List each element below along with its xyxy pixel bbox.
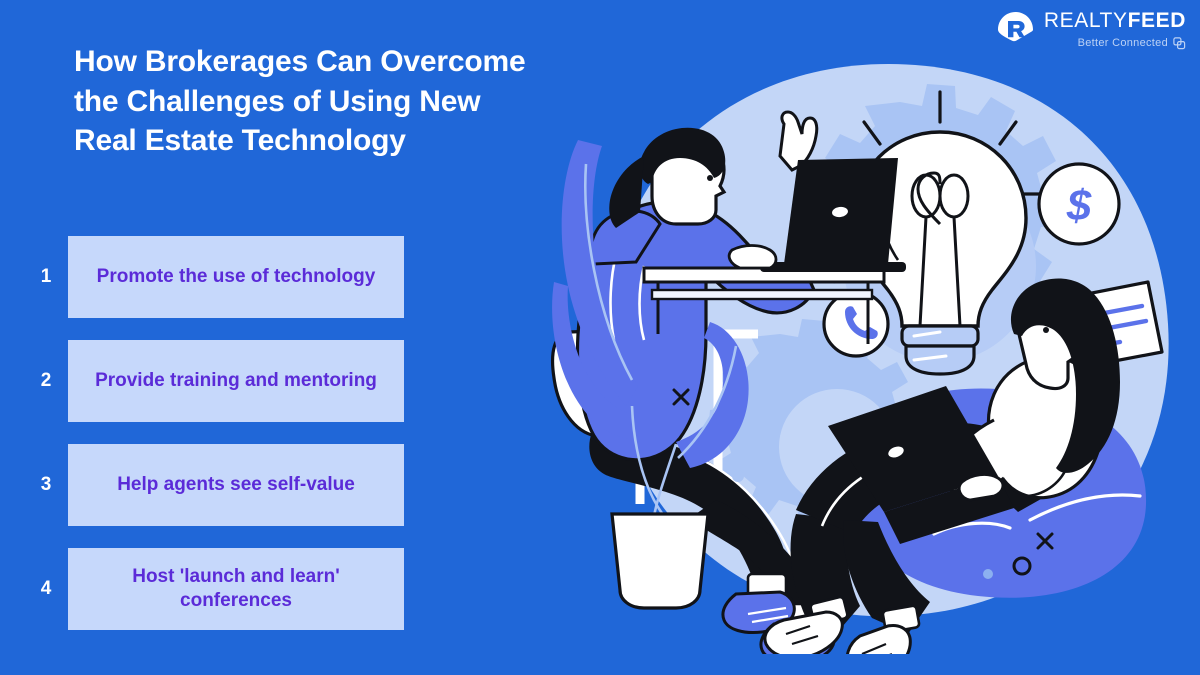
infographic-canvas: REALTYFEED Better Connected How Brokerag… xyxy=(0,0,1200,675)
list-item[interactable]: 3 Help agents see self-value xyxy=(24,444,404,526)
brand-wordmark-primary: REALTY xyxy=(1044,9,1128,32)
step-number: 3 xyxy=(24,474,68,496)
step-number: 1 xyxy=(24,266,68,288)
svg-text:$: $ xyxy=(1066,181,1092,230)
step-label: Help agents see self-value xyxy=(117,473,355,497)
page-title: How Brokerages Can Overcome the Challeng… xyxy=(74,42,594,161)
hero-illustration: $ xyxy=(548,34,1200,654)
step-card[interactable]: Host 'launch and learn' conferences xyxy=(68,548,404,630)
small-dot xyxy=(983,569,993,579)
step-label: Host 'launch and learn' conferences xyxy=(132,565,340,614)
list-item[interactable]: 2 Provide training and mentoring xyxy=(24,340,404,422)
step-number: 4 xyxy=(24,578,68,600)
brand-wordmark-secondary: FEED xyxy=(1128,9,1186,32)
list-item[interactable]: 1 Promote the use of technology xyxy=(24,236,404,318)
dollar-coin-icon: $ xyxy=(1039,164,1119,244)
steps-list: 1 Promote the use of technology 2 Provid… xyxy=(24,236,404,630)
brand-wordmark: REALTYFEED xyxy=(1044,10,1186,31)
list-item[interactable]: 4 Host 'launch and learn' conferences xyxy=(24,548,404,630)
step-label: Promote the use of technology xyxy=(97,265,376,289)
step-card[interactable]: Provide training and mentoring xyxy=(68,340,404,422)
phone-circle-icon xyxy=(824,292,888,356)
step-card[interactable]: Help agents see self-value xyxy=(68,444,404,526)
step-card[interactable]: Promote the use of technology xyxy=(68,236,404,318)
step-number: 2 xyxy=(24,370,68,392)
small-dot xyxy=(732,470,744,482)
step-label: Provide training and mentoring xyxy=(95,369,377,393)
